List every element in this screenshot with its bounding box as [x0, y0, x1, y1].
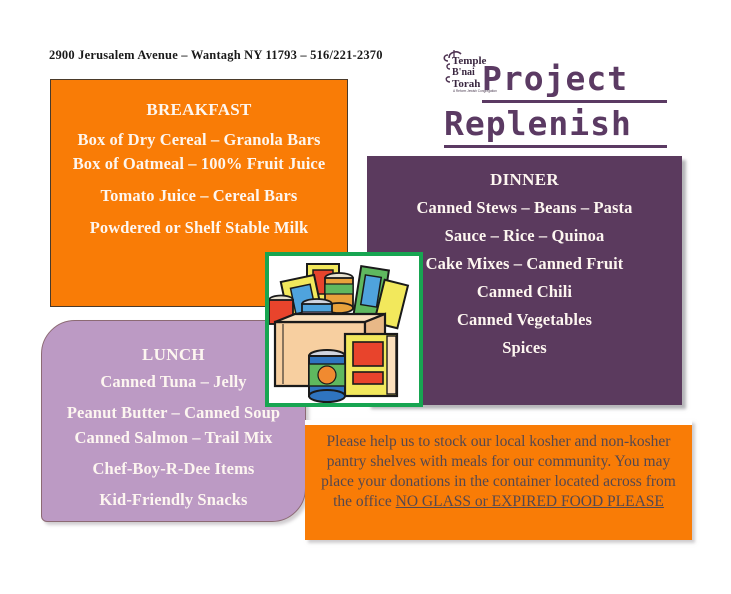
- breakfast-item: Box of Oatmeal – 100% Fruit Juice: [51, 154, 347, 174]
- breakfast-item: Powdered or Shelf Stable Milk: [51, 218, 347, 238]
- title-line-replenish: Replenish: [444, 107, 667, 148]
- dinner-item: Sauce – Rice – Quinoa: [367, 226, 682, 246]
- breakfast-item: Box of Dry Cereal – Granola Bars: [51, 130, 347, 150]
- breakfast-title: BREAKFAST: [51, 100, 347, 120]
- dinner-item: Canned Stews – Beans – Pasta: [367, 198, 682, 218]
- lunch-item: Canned Salmon – Trail Mix: [42, 428, 305, 448]
- donation-instructions-note: Please help us to stock our local kosher…: [305, 420, 692, 540]
- dinner-title: DINNER: [367, 170, 682, 190]
- address-line: 2900 Jerusalem Avenue – Wantagh NY 11793…: [49, 48, 383, 63]
- breakfast-item: Tomato Juice – Cereal Bars: [51, 186, 347, 206]
- food-donation-box-clipart: [265, 252, 423, 407]
- food-box-illustration: [269, 256, 419, 403]
- lunch-item: Kid-Friendly Snacks: [42, 490, 305, 510]
- title-line-project: Project: [482, 62, 667, 103]
- page-title: Project Replenish: [444, 62, 694, 148]
- flyer-page: 2900 Jerusalem Avenue – Wantagh NY 11793…: [0, 0, 731, 594]
- note-emphasis-text: NO GLASS or EXPIRED FOOD PLEASE: [396, 493, 664, 510]
- lunch-item: Chef-Boy-R-Dee Items: [42, 459, 305, 479]
